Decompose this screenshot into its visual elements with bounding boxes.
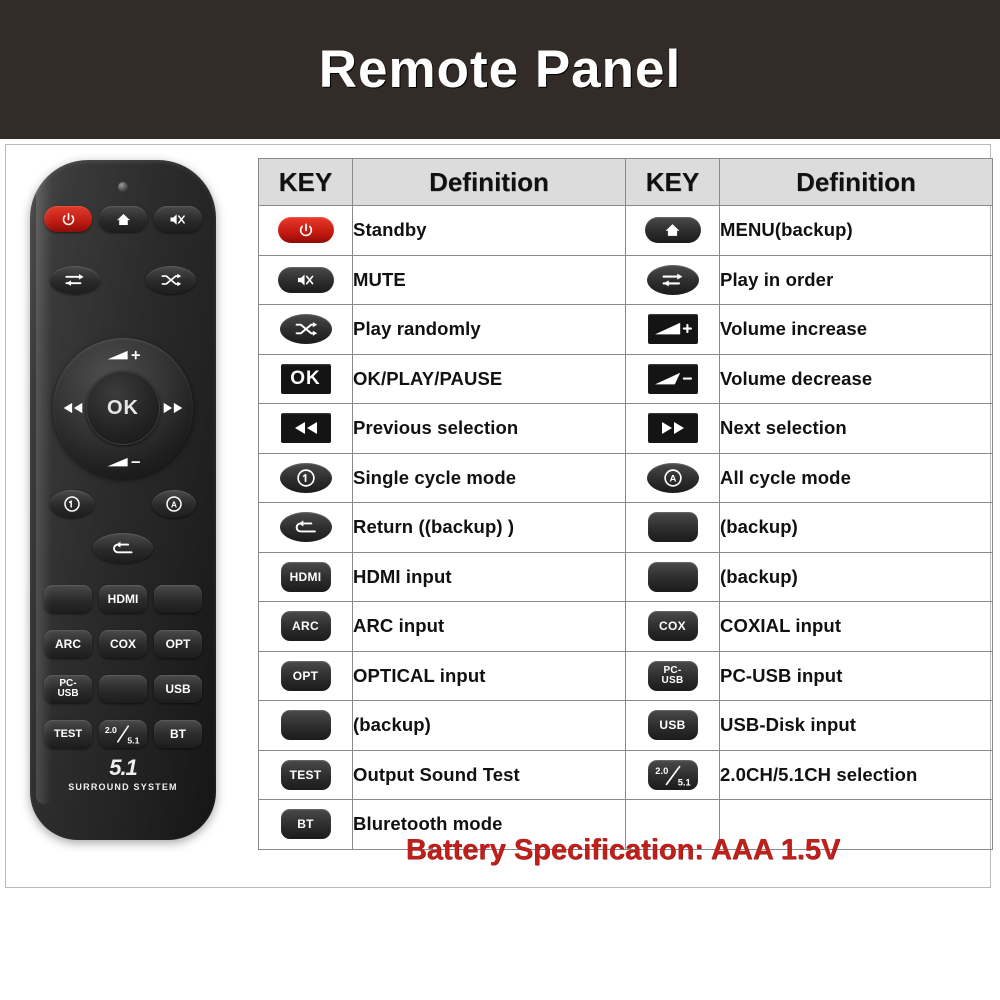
key-definition-table: KEY Definition KEY Definition StandbyMEN…: [258, 158, 993, 850]
key-cell-left: HDMI: [259, 552, 353, 602]
remote-ok-label: OK: [107, 397, 139, 420]
ir-led-indicator: [118, 182, 128, 192]
key-hdmi-text: HDMI: [290, 571, 322, 583]
key-test-text: TEST: [290, 769, 322, 781]
key-blank: [281, 710, 331, 740]
key-cell-left: [259, 701, 353, 751]
remote-test-label: TEST: [54, 728, 82, 740]
key-cell-left: [259, 404, 353, 454]
key-cell-right: [626, 404, 720, 454]
key-cell-right: [626, 255, 720, 305]
definition-cell-left: Previous selection: [353, 404, 626, 454]
header-definition-left: Definition: [353, 159, 626, 206]
remote-ch-top-text: 2.0: [105, 725, 117, 735]
key-all-cycle: A: [647, 463, 699, 493]
channel-mode-icon: 2.05.1: [650, 761, 696, 789]
definition-cell-right: Play in order: [720, 255, 993, 305]
single-cycle-icon: [62, 494, 82, 514]
remote-blank-key-1[interactable]: [44, 585, 92, 613]
key-cell-right: [626, 354, 720, 404]
remote-opt-key[interactable]: OPT: [154, 630, 202, 658]
key-return: [280, 512, 332, 542]
remote-cox-key[interactable]: COX: [99, 630, 147, 658]
all-cycle-icon: A: [164, 494, 184, 514]
previous-track-icon: [293, 420, 319, 436]
key-cell-left: [259, 305, 353, 355]
remote-shuffle-button[interactable]: [146, 266, 196, 294]
key-usb-text: USB: [659, 719, 685, 731]
definition-cell-right: COXIAL input: [720, 602, 993, 652]
all-cycle-icon: A: [662, 467, 684, 489]
remote-logo-subtitle: SURROUND SYSTEM: [30, 782, 216, 792]
definition-cell-left: ARC input: [353, 602, 626, 652]
key-next-track: [648, 413, 698, 443]
definition-cell-left: MUTE: [353, 255, 626, 305]
battery-specification: Battery Specification: AAA 1.5V: [258, 834, 988, 867]
definition-cell-left: HDMI input: [353, 552, 626, 602]
definition-cell-right: (backup): [720, 503, 993, 553]
volume-down-icon: [652, 370, 694, 388]
table-row: Return ((backup) )(backup): [259, 503, 993, 553]
key-single-cycle: [280, 463, 332, 493]
key-cell-right: [626, 206, 720, 256]
key-opt-text: OPT: [293, 670, 319, 682]
key-arc-text: ARC: [292, 620, 319, 632]
volume-down-icon: [106, 455, 140, 470]
table-row: OKOK/PLAY/PAUSEVolume decrease: [259, 354, 993, 404]
remote-volume-up[interactable]: [106, 348, 140, 363]
remote-blank-key-3[interactable]: [99, 675, 147, 703]
remote-return-button[interactable]: [93, 533, 153, 563]
remote-ok-button[interactable]: OK: [86, 371, 160, 445]
key-ok: OK: [281, 364, 331, 394]
single-cycle-icon: [295, 467, 317, 489]
play-in-order-icon: [64, 272, 86, 288]
table-row: HDMIHDMI input(backup): [259, 552, 993, 602]
key-home-menu: [645, 217, 701, 243]
key-cell-left: [259, 453, 353, 503]
power-standby-icon: [298, 222, 314, 238]
table-row: Single cycle modeAAll cycle mode: [259, 453, 993, 503]
table-row: OPTOPTICAL inputPC-USBPC-USB input: [259, 651, 993, 701]
table-body: StandbyMENU(backup)MUTEPlay in orderPlay…: [259, 206, 993, 850]
definition-cell-left: Return ((backup) ): [353, 503, 626, 553]
next-track-icon: [660, 420, 686, 436]
remote-brand-logo: 5.1 SURROUND SYSTEM: [30, 755, 216, 792]
key-cell-left: [259, 255, 353, 305]
key-ok-text: OK: [290, 369, 321, 388]
remote-previous-button[interactable]: [62, 401, 84, 415]
definition-cell-right: 2.0CH/5.1CH selection: [720, 750, 993, 800]
return-icon: [293, 519, 319, 535]
home-menu-icon: [663, 222, 682, 238]
key-cell-right: [626, 503, 720, 553]
remote-usb-label: USB: [165, 682, 190, 696]
svg-text:A: A: [669, 473, 676, 484]
table-header-row: KEY Definition KEY Definition: [259, 159, 993, 206]
svg-text:5.1: 5.1: [677, 777, 690, 787]
play-in-order-icon: [661, 272, 685, 288]
definition-cell-left: OK/PLAY/PAUSE: [353, 354, 626, 404]
remote-volume-down[interactable]: [106, 455, 140, 470]
key-cox: COX: [648, 611, 698, 641]
table-row: ARCARC inputCOXCOXIAL input: [259, 602, 993, 652]
table-row: MUTEPlay in order: [259, 255, 993, 305]
svg-text:A: A: [171, 499, 177, 509]
header-key-left: KEY: [259, 159, 353, 206]
definition-cell-right: Volume increase: [720, 305, 993, 355]
remote-menu-button[interactable]: [99, 206, 147, 232]
key-pc-usb-text-bottom: USB: [661, 676, 683, 686]
definition-cell-left: (backup): [353, 701, 626, 751]
table-row: (backup)USBUSB-Disk input: [259, 701, 993, 751]
key-cell-left: OPT: [259, 651, 353, 701]
key-usb: USB: [648, 710, 698, 740]
next-track-icon: [162, 401, 184, 415]
table-row: StandbyMENU(backup): [259, 206, 993, 256]
remote-pc-usb-label-bottom: USB: [57, 689, 78, 700]
remote-navigation-ring[interactable]: OK: [53, 338, 193, 478]
key-power-standby: [278, 217, 334, 243]
definition-cell-left: Output Sound Test: [353, 750, 626, 800]
definition-cell-right: USB-Disk input: [720, 701, 993, 751]
key-volume-up: [648, 314, 698, 344]
key-test: TEST: [281, 760, 331, 790]
volume-up-icon: [106, 348, 140, 363]
key-cell-right: A: [626, 453, 720, 503]
key-pc-usb: PC-USB: [648, 661, 698, 691]
power-icon: [61, 212, 76, 227]
key-blank: [648, 512, 698, 542]
remote-ch-bottom-text: 5.1: [127, 736, 139, 746]
definition-cell-right: Next selection: [720, 404, 993, 454]
volume-up-icon: [652, 320, 694, 338]
remote-pc-usb-key[interactable]: PC- USB: [44, 675, 92, 703]
previous-track-icon: [62, 401, 84, 415]
definition-cell-left: Play randomly: [353, 305, 626, 355]
remote-next-button[interactable]: [162, 401, 184, 415]
key-hdmi: HDMI: [281, 562, 331, 592]
home-icon: [115, 212, 132, 227]
remote-channel-mode-key[interactable]: 2.0 5.1: [99, 720, 147, 748]
key-cell-left: TEST: [259, 750, 353, 800]
remote-single-cycle-button[interactable]: [50, 490, 94, 518]
definition-cell-left: OPTICAL input: [353, 651, 626, 701]
remote-bt-key[interactable]: BT: [154, 720, 202, 748]
key-cell-right: [626, 305, 720, 355]
table-row: Previous selectionNext selection: [259, 404, 993, 454]
remote-hdmi-label: HDMI: [108, 592, 139, 606]
key-cell-left: [259, 206, 353, 256]
remote-mute-button[interactable]: [154, 206, 202, 232]
key-cox-text: COX: [659, 620, 686, 632]
remote-power-button[interactable]: [44, 206, 92, 232]
svg-text:2.0: 2.0: [655, 766, 668, 776]
shuffle-icon: [294, 321, 318, 337]
key-cell-right: USB: [626, 701, 720, 751]
remote-arc-key[interactable]: ARC: [44, 630, 92, 658]
mute-icon: [296, 272, 316, 288]
key-cell-left: OK: [259, 354, 353, 404]
remote-cox-label: COX: [110, 637, 136, 651]
key-cell-right: 2.05.1: [626, 750, 720, 800]
key-mute: [278, 267, 334, 293]
definition-cell-right: All cycle mode: [720, 453, 993, 503]
remote-play-in-order-button[interactable]: [50, 266, 100, 294]
key-channel-mode: 2.05.1: [648, 760, 698, 790]
remote-bt-label: BT: [170, 727, 186, 741]
table-row: TESTOutput Sound Test2.05.12.0CH/5.1CH s…: [259, 750, 993, 800]
definition-cell-right: MENU(backup): [720, 206, 993, 256]
remote-blank-key-2[interactable]: [154, 585, 202, 613]
remote-arc-label: ARC: [55, 637, 81, 651]
page-title: Remote Panel: [319, 39, 682, 100]
shuffle-icon: [160, 272, 182, 288]
definition-cell-right: PC-USB input: [720, 651, 993, 701]
definition-cell-left: Single cycle mode: [353, 453, 626, 503]
key-volume-down: [648, 364, 698, 394]
key-cell-right: COX: [626, 602, 720, 652]
remote-test-key[interactable]: TEST: [44, 720, 92, 748]
remote-hdmi-key[interactable]: HDMI: [99, 585, 147, 613]
key-blank: [648, 562, 698, 592]
return-icon: [111, 540, 135, 556]
header-definition-right: Definition: [720, 159, 993, 206]
key-cell-left: ARC: [259, 602, 353, 652]
key-cell-left: [259, 503, 353, 553]
channel-mode-icon: 2.0 5.1: [102, 721, 144, 747]
definition-cell-right: Volume decrease: [720, 354, 993, 404]
remote-opt-label: OPT: [166, 637, 191, 651]
remote-control-image: OK A HDMI ARC: [8, 150, 244, 860]
table-row: Play randomlyVolume increase: [259, 305, 993, 355]
key-arc: ARC: [281, 611, 331, 641]
key-previous-track: [281, 413, 331, 443]
key-cell-right: PC-USB: [626, 651, 720, 701]
mute-icon: [169, 212, 187, 227]
key-play-in-order: [647, 265, 699, 295]
key-shuffle: [280, 314, 332, 344]
key-cell-right: [626, 552, 720, 602]
key-opt: OPT: [281, 661, 331, 691]
remote-all-cycle-button[interactable]: A: [152, 490, 196, 518]
definition-cell-right: (backup): [720, 552, 993, 602]
remote-logo-mark: 5.1: [30, 755, 216, 781]
key-bt-text: BT: [297, 818, 314, 830]
header-key-right: KEY: [626, 159, 720, 206]
remote-body: OK A HDMI ARC: [30, 160, 216, 840]
page-header: Remote Panel: [0, 0, 1000, 139]
remote-usb-key[interactable]: USB: [154, 675, 202, 703]
definition-cell-left: Standby: [353, 206, 626, 256]
